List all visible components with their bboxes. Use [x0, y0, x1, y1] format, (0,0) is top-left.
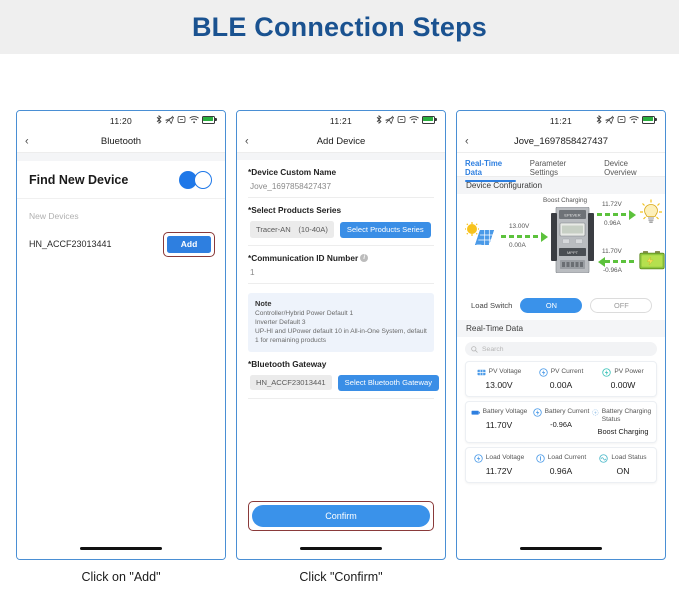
nav-bar: ‹ Jove_1697858427437	[457, 131, 665, 153]
gateway-value: HN_ACCF23013441	[250, 375, 332, 390]
battery-arrow	[597, 260, 637, 263]
field-select-products-series: *Select Products Series Tracer-AN (10-40…	[237, 198, 445, 246]
load-current-label: 0.96A	[604, 220, 621, 227]
device-list-item[interactable]: HN_ACCF23013441 Add	[17, 227, 225, 261]
bluetooth-icon	[156, 115, 162, 124]
phone-screen-realtime-data: 11:21 ‹ Jove_1697858427437 Real-Time Dat…	[456, 110, 666, 560]
status-icons	[596, 115, 657, 124]
gateway-row: HN_ACCF23013441 Select Bluetooth Gateway	[248, 369, 434, 399]
data-value: 0.00A	[550, 380, 572, 390]
load-status-icon	[599, 454, 608, 463]
field-label: *Bluetooth Gateway	[248, 359, 434, 369]
section-gap	[237, 153, 445, 160]
nav-title: Jove_1697858427437	[483, 136, 639, 147]
solar-panel-icon	[465, 222, 497, 248]
field-label-text: *Communication ID Number	[248, 253, 358, 263]
data-label: Battery Voltage	[483, 408, 528, 416]
field-label: *Device Custom Name	[248, 167, 434, 177]
data-label: Battery Current	[545, 408, 590, 416]
load-switch-row: Load Switch ON OFF	[457, 294, 665, 320]
battery-icon	[422, 116, 437, 124]
airplane-icon	[605, 115, 614, 124]
pv-voltage-label: 13.00V	[509, 223, 529, 230]
bluetooth-icon	[596, 115, 602, 124]
search-input[interactable]: Search	[465, 342, 657, 356]
home-indicator	[80, 547, 162, 551]
products-series-value: Tracer-AN (10-40A)	[250, 221, 334, 238]
data-cell: Load Voltage 11.72V	[468, 454, 530, 476]
battery-voltage-label: 11.70V	[602, 248, 622, 255]
phones-row: 11:20 ‹ Bluetooth Find New Device	[0, 110, 679, 560]
data-card-battery: Battery Voltage 11.70V Battery Current -…	[465, 401, 657, 443]
data-label: Load Voltage	[486, 454, 525, 462]
phone-screen-bluetooth: 11:20 ‹ Bluetooth Find New Device	[16, 110, 226, 560]
data-card-load: Load Voltage 11.72V Load Current 0.96A L…	[465, 447, 657, 483]
tab-bar: Real-Time Data Parameter Settings Device…	[457, 153, 665, 177]
status-bar: 11:21	[237, 111, 445, 131]
home-indicator	[520, 547, 602, 551]
load-voltage-label: 11.72V	[602, 201, 622, 208]
section-gap	[17, 153, 225, 161]
alarm-icon	[397, 115, 406, 124]
field-label: *Select Products Series	[248, 205, 434, 215]
battery-icon	[639, 250, 665, 270]
data-value: 0.96A	[550, 466, 572, 476]
charging-mode-label: Boost Charging	[543, 197, 587, 204]
back-icon[interactable]: ‹	[25, 136, 29, 147]
wifi-icon	[629, 116, 639, 124]
confirm-button-highlight: Confirm	[248, 501, 434, 531]
data-value: 0.00W	[611, 380, 636, 390]
data-cell: Battery Charging Status Boost Charging	[592, 408, 654, 436]
new-devices-label: New Devices	[17, 199, 225, 227]
find-new-device-row: Find New Device	[17, 161, 225, 199]
data-value: 11.70V	[486, 420, 513, 430]
tab-device-overview[interactable]: Device Overview	[604, 159, 657, 182]
airplane-icon	[385, 115, 394, 124]
light-bulb-icon	[639, 199, 663, 225]
wifi-icon	[409, 116, 419, 124]
data-cell: PV Current 0.00A	[530, 368, 592, 390]
data-label: Battery Charging Status	[602, 408, 654, 424]
data-label: Load Current	[548, 454, 587, 462]
search-icon	[471, 346, 478, 353]
battery-charging-status-icon	[592, 408, 599, 417]
pv-current-label: 0.00A	[509, 242, 526, 249]
alarm-icon	[177, 115, 186, 124]
page-banner: BLE Connection Steps	[0, 0, 679, 54]
note-line: Controller/Hybrid Power Default 1	[255, 310, 427, 319]
load-arrow	[597, 213, 637, 216]
field-communication-id: *Communication ID Number i 1	[237, 246, 445, 284]
load-switch-label: Load Switch	[471, 301, 512, 310]
data-cell: Battery Voltage 11.70V	[468, 408, 530, 436]
phone-screen-add-device: 11:21 ‹ Add Device *Device Cu	[236, 110, 446, 560]
status-bar: 11:21	[457, 111, 665, 131]
select-bluetooth-gateway-button[interactable]: Select Bluetooth Gateway	[338, 375, 439, 391]
battery-voltage-icon	[471, 408, 480, 417]
tab-real-time-data[interactable]: Real-Time Data	[465, 159, 516, 182]
charge-controller-icon: EPEVER MPPT	[551, 207, 594, 273]
field-bluetooth-gateway: *Bluetooth Gateway HN_ACCF23013441 Selec…	[237, 352, 445, 399]
status-bar: 11:20	[17, 111, 225, 131]
device-diagram: 13.00V 0.00A EPEVER MPPT	[463, 194, 659, 294]
data-cell: PV Power 0.00W	[592, 368, 654, 390]
pv-voltage-icon	[477, 368, 486, 377]
svg-text:EPEVER: EPEVER	[564, 213, 580, 218]
info-icon[interactable]: i	[360, 254, 368, 262]
data-label: PV Voltage	[489, 368, 522, 376]
data-cell: Load Current 0.96A	[530, 454, 592, 476]
pv-current-icon	[539, 368, 548, 377]
data-cell: PV Voltage 13.00V	[468, 368, 530, 390]
device-name: HN_ACCF23013441	[29, 239, 112, 249]
battery-icon	[642, 116, 657, 124]
data-label: PV Power	[614, 368, 643, 376]
bluetooth-icon	[376, 115, 382, 124]
battery-current-label: -0.96A	[603, 267, 622, 274]
add-button[interactable]: Add	[167, 236, 211, 253]
data-value: -0.96A	[550, 420, 572, 429]
data-cell: Load Status ON	[592, 454, 654, 476]
field-label: *Communication ID Number i	[248, 253, 434, 263]
page-title: BLE Connection Steps	[192, 12, 487, 43]
note-line: Inverter Default 3	[255, 319, 427, 328]
airplane-icon	[165, 115, 174, 124]
data-value: Boost Charging	[598, 427, 649, 436]
caption-step-2: Click "Confirm"	[236, 570, 446, 584]
select-products-series-button[interactable]: Select Products Series	[340, 222, 431, 238]
find-new-device-toggle[interactable]	[179, 171, 213, 189]
status-icons	[156, 115, 217, 124]
confirm-button[interactable]: Confirm	[252, 505, 430, 527]
communication-id-input[interactable]: 1	[248, 263, 434, 284]
data-card-pv: PV Voltage 13.00V PV Current 0.00A PV Po…	[465, 361, 657, 397]
load-switch-on-button[interactable]: ON	[520, 298, 582, 313]
load-voltage-icon	[474, 454, 483, 463]
pv-arrow	[501, 235, 549, 238]
nav-title: Add Device	[263, 136, 419, 147]
nav-title: Bluetooth	[43, 136, 199, 147]
tab-parameter-settings[interactable]: Parameter Settings	[530, 159, 590, 182]
data-cell: Battery Current -0.96A	[530, 408, 592, 436]
status-icons	[376, 115, 437, 124]
back-icon[interactable]: ‹	[465, 136, 469, 147]
nav-bar: ‹ Bluetooth	[17, 131, 225, 153]
find-new-device-label: Find New Device	[29, 173, 128, 187]
note-title: Note	[255, 299, 427, 308]
wifi-icon	[189, 116, 199, 124]
realtime-data-header: Real-Time Data	[457, 320, 665, 337]
add-button-highlight: Add	[163, 232, 215, 257]
nav-bar: ‹ Add Device	[237, 131, 445, 153]
page-root: BLE Connection Steps 11:20 ‹ Bluetooth	[0, 0, 679, 590]
load-current-icon	[536, 454, 545, 463]
device-custom-name-input[interactable]: Jove_1697858427437	[248, 177, 434, 198]
note-line: UP-HI and UPower default 10 in All-in-On…	[255, 328, 427, 346]
caption-step-1: Click on "Add"	[16, 570, 226, 584]
data-value: ON	[617, 466, 630, 476]
data-value: 13.00V	[485, 380, 512, 390]
products-series-row: Tracer-AN (10-40A) Select Products Serie…	[248, 215, 434, 246]
empty-area	[17, 261, 225, 559]
svg-text:MPPT: MPPT	[567, 250, 579, 255]
battery-current-icon	[533, 408, 542, 417]
field-device-custom-name: *Device Custom Name Jove_1697858427437	[237, 160, 445, 198]
alarm-icon	[617, 115, 626, 124]
note-box: Note Controller/Hybrid Power Default 1 I…	[248, 293, 434, 352]
data-label: PV Current	[551, 368, 584, 376]
data-value: 11.72V	[486, 466, 513, 476]
form-scroll-area: *Device Custom Name Jove_1697858427437 *…	[237, 160, 445, 524]
pv-power-icon	[602, 368, 611, 377]
battery-icon	[202, 116, 217, 124]
load-switch-off-button[interactable]: OFF	[590, 298, 652, 313]
search-placeholder: Search	[482, 346, 504, 353]
home-indicator	[300, 547, 382, 551]
back-icon[interactable]: ‹	[245, 136, 249, 147]
data-label: Load Status	[611, 454, 646, 462]
